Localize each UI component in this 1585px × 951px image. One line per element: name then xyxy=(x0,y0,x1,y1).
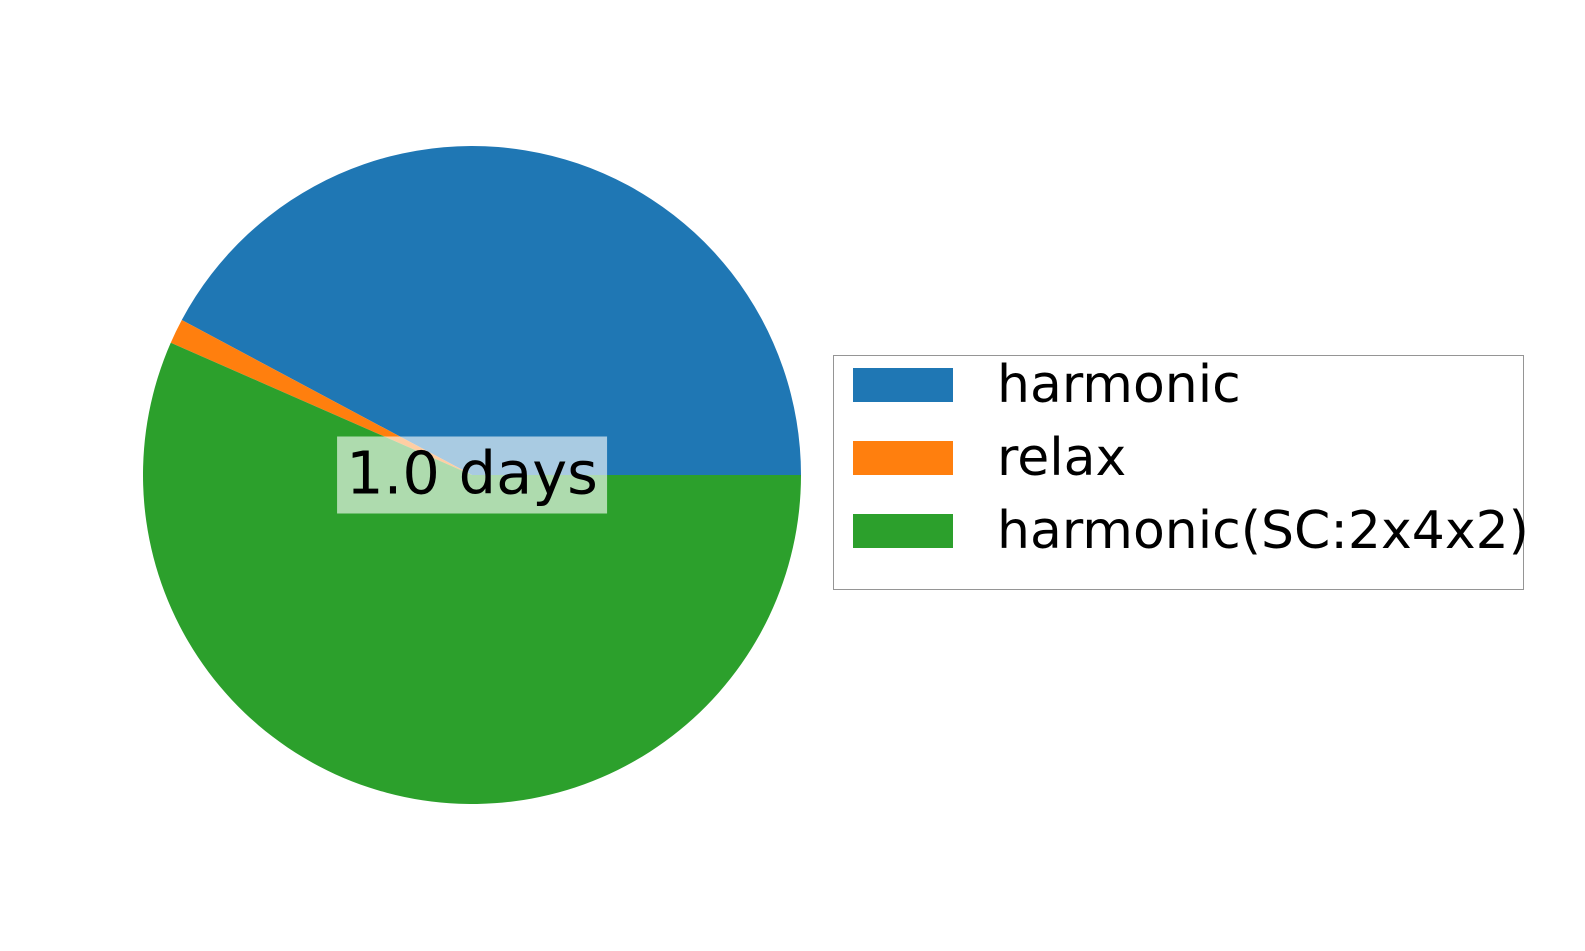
legend-label-relax: relax xyxy=(997,431,1126,485)
pie-center-annotation: 1.0 days xyxy=(337,437,607,514)
legend-swatch-relax xyxy=(853,441,953,475)
legend-swatch-harmonic-sc-2x4x2 xyxy=(853,514,953,548)
legend-label-harmonic: harmonic xyxy=(997,358,1241,412)
pie-chart-figure: 1.0 days harmonic relax harmonic(SC:2x4x… xyxy=(0,0,1585,951)
legend-swatch-harmonic xyxy=(853,368,953,402)
legend-label-harmonic-sc-2x4x2: harmonic(SC:2x4x2) xyxy=(997,504,1529,558)
chart-legend: harmonic relax harmonic(SC:2x4x2) xyxy=(833,355,1524,590)
